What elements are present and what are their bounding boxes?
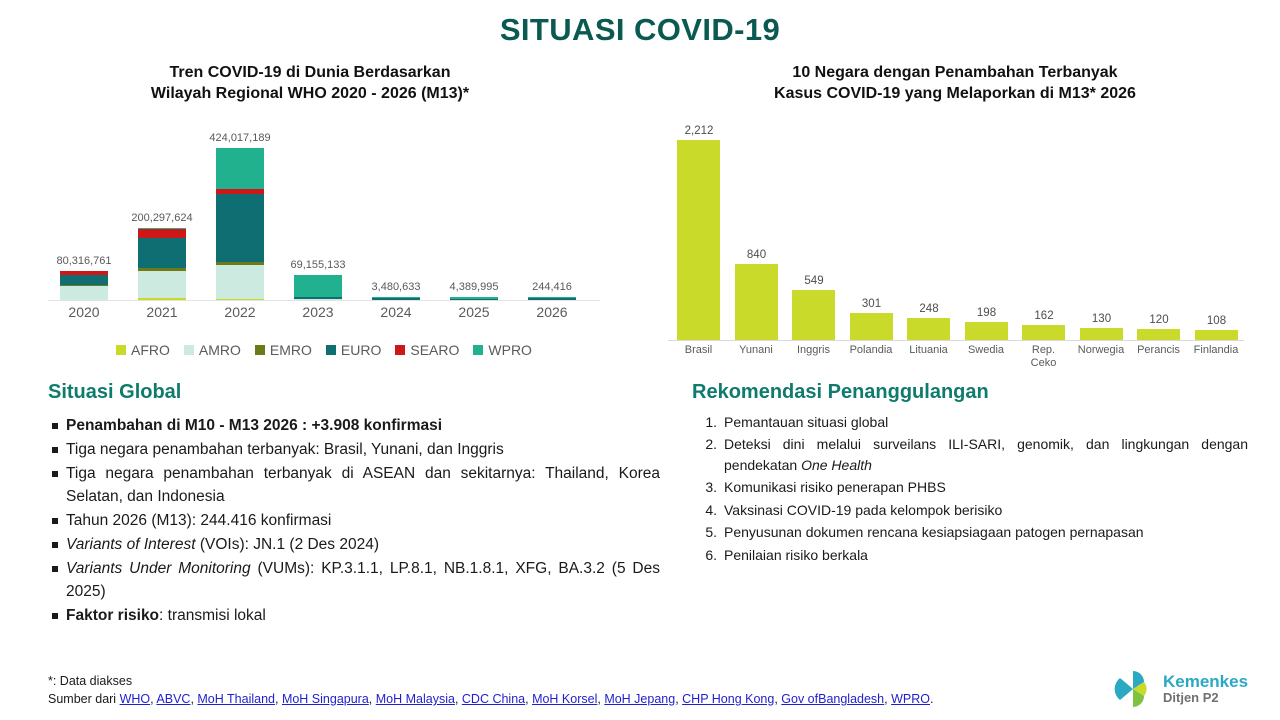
source-link-mohkorsel[interactable]: MoH Korsel bbox=[532, 692, 597, 706]
left-chart-legend: AFROAMROEMROEUROSEAROWPRO bbox=[44, 342, 604, 358]
country-bar-column: 108 bbox=[1188, 118, 1245, 340]
legend-swatch-icon bbox=[473, 345, 483, 355]
legend-item-searo[interactable]: SEARO bbox=[395, 342, 459, 358]
source-link-chphongkong[interactable]: CHP Hong Kong bbox=[682, 692, 774, 706]
rekomendasi-heading: Rekomendasi Penanggulangan bbox=[692, 381, 989, 404]
stacked-bar-column: 424,017,189 bbox=[204, 120, 276, 300]
country-label-yunani: Yunani bbox=[728, 344, 785, 357]
rekomendasi-text: Komunikasi risiko penerapan PHBS bbox=[724, 477, 1248, 497]
kemenkes-clover-icon bbox=[1112, 668, 1156, 710]
left-chart-title-line1: Tren COVID-19 di Dunia Berdasarkan bbox=[30, 62, 590, 83]
list-number: 1. bbox=[700, 412, 717, 432]
country-bar bbox=[735, 264, 778, 340]
country-label-norwegia: Norwegia bbox=[1073, 344, 1130, 357]
x-axis-label-2022: 2022 bbox=[204, 304, 276, 320]
left-chart-plot: 80,316,761200,297,624424,017,18969,155,1… bbox=[44, 120, 604, 300]
country-label-inggris: Inggris bbox=[785, 344, 842, 357]
legend-swatch-icon bbox=[184, 345, 194, 355]
stacked-bar bbox=[216, 148, 264, 300]
bullet-square-icon bbox=[52, 471, 58, 477]
situasi-bullet-item: Penambahan di M10 - M13 2026 : +3.908 ko… bbox=[52, 415, 660, 438]
rekomendasi-item: 3.Komunikasi risiko penerapan PHBS bbox=[700, 477, 1248, 497]
stacked-bar-segment-wpro bbox=[216, 148, 264, 189]
stacked-bar-column: 80,316,761 bbox=[48, 120, 120, 300]
list-number: 3. bbox=[700, 477, 717, 497]
country-label-finlandia: Finlandia bbox=[1188, 344, 1245, 357]
bullet-square-icon bbox=[52, 566, 58, 572]
rekomendasi-item: 6.Penilaian risiko berkala bbox=[700, 545, 1248, 565]
right-chart-title: 10 Negara dengan Penambahan Terbanyak Ka… bbox=[650, 62, 1260, 104]
stacked-bar-column: 69,155,133 bbox=[282, 120, 354, 300]
rekomendasi-item: 1.Pemantauan situasi global bbox=[700, 412, 1248, 432]
right-chart-title-line2: Kasus COVID-19 yang Melaporkan di M13* 2… bbox=[650, 83, 1260, 104]
rekomendasi-item: 4.Vaksinasi COVID-19 pada kelompok beris… bbox=[700, 500, 1248, 520]
country-bar bbox=[1022, 325, 1065, 340]
bullet-square-icon bbox=[52, 613, 58, 619]
rekomendasi-text: Deteksi dini melalui surveilans ILI-SARI… bbox=[724, 434, 1248, 475]
situasi-bullet-item: Tiga negara penambahan terbanyak: Brasil… bbox=[52, 439, 660, 462]
stacked-bar-segment-euro bbox=[216, 194, 264, 261]
source-separator: , bbox=[275, 692, 282, 706]
stacked-bar-segment-amro bbox=[216, 265, 264, 299]
stacked-bar-segment-amro bbox=[138, 271, 186, 298]
country-bar bbox=[850, 313, 893, 340]
situasi-bullet-text: Variants Under Monitoring (VUMs): KP.3.1… bbox=[66, 558, 660, 604]
source-link-wpro[interactable]: WPRO bbox=[891, 692, 930, 706]
legend-label: WPRO bbox=[488, 342, 532, 358]
source-separator: , bbox=[455, 692, 462, 706]
slide-root: SITUASI COVID-19 Tren COVID-19 di Dunia … bbox=[0, 0, 1280, 720]
country-label-repceko: Rep.Ceko bbox=[1015, 344, 1072, 371]
stacked-bar-segment-amro bbox=[60, 286, 108, 300]
logo-subtitle: Ditjen P2 bbox=[1163, 691, 1248, 705]
stacked-bar-segment-searo bbox=[138, 229, 186, 238]
kemenkes-logo-text: Kemenkes Ditjen P2 bbox=[1163, 673, 1248, 705]
stacked-bar-segment-euro bbox=[60, 275, 108, 285]
right-chart-plot: 2,212840549301248198162130120108 bbox=[668, 118, 1268, 340]
stacked-bar-column: 3,480,633 bbox=[360, 120, 432, 300]
country-bar bbox=[1137, 329, 1180, 340]
rekomendasi-text: Vaksinasi COVID-19 pada kelompok berisik… bbox=[724, 500, 1248, 520]
who-region-trend-chart: 80,316,761200,297,624424,017,18969,155,1… bbox=[44, 120, 604, 365]
left-chart-title: Tren COVID-19 di Dunia Berdasarkan Wilay… bbox=[30, 62, 590, 104]
source-separator: . bbox=[930, 692, 933, 706]
right-chart-x-labels: BrasilYunaniInggrisPolandiaLituaniaSwedi… bbox=[668, 344, 1268, 378]
country-bar-column: 2,212 bbox=[670, 118, 727, 340]
rekomendasi-list: 1.Pemantauan situasi global2.Deteksi din… bbox=[700, 412, 1248, 567]
situasi-bullet-text: Faktor risiko: transmisi lokal bbox=[66, 605, 660, 628]
country-bar bbox=[1080, 328, 1123, 340]
source-link-cdcchina[interactable]: CDC China bbox=[462, 692, 525, 706]
stacked-bar-segment-euro bbox=[138, 238, 186, 268]
stacked-bar-column: 244,416 bbox=[516, 120, 588, 300]
source-link-mohmalaysia[interactable]: MoH Malaysia bbox=[376, 692, 455, 706]
legend-item-euro[interactable]: EURO bbox=[326, 342, 381, 358]
list-number: 4. bbox=[700, 500, 717, 520]
legend-swatch-icon bbox=[116, 345, 126, 355]
stacked-bar bbox=[138, 228, 186, 300]
stacked-bar-value-label: 69,155,133 bbox=[263, 259, 373, 271]
country-bar-value-label: 108 bbox=[1177, 315, 1257, 327]
legend-label: AMRO bbox=[199, 342, 241, 358]
page-title: SITUASI COVID-19 bbox=[0, 12, 1280, 48]
top10-countries-chart: 2,212840549301248198162130120108 BrasilY… bbox=[668, 118, 1268, 378]
situasi-bullet-item: Variants of Interest (VOIs): JN.1 (2 Des… bbox=[52, 534, 660, 557]
x-axis-label-2026: 2026 bbox=[516, 304, 588, 320]
right-chart-title-line1: 10 Negara dengan Penambahan Terbanyak bbox=[650, 62, 1260, 83]
kemenkes-logo: Kemenkes Ditjen P2 bbox=[1112, 664, 1264, 714]
footer-source-line: Sumber dari WHO, ABVC, MoH Thailand, MoH… bbox=[48, 690, 1088, 708]
country-bar-column: 120 bbox=[1130, 118, 1187, 340]
legend-item-amro[interactable]: AMRO bbox=[184, 342, 241, 358]
legend-swatch-icon bbox=[255, 345, 265, 355]
legend-label: SEARO bbox=[410, 342, 459, 358]
source-link-govofbangladesh[interactable]: Gov ofBangladesh bbox=[781, 692, 884, 706]
source-link-mohthailand[interactable]: MoH Thailand bbox=[197, 692, 275, 706]
source-separator: , bbox=[369, 692, 376, 706]
x-axis-label-2025: 2025 bbox=[438, 304, 510, 320]
country-bar-column: 198 bbox=[958, 118, 1015, 340]
situasi-bullet-text: Tahun 2026 (M13): 244.416 konfirmasi bbox=[66, 510, 660, 533]
stacked-bar-column: 4,389,995 bbox=[438, 120, 510, 300]
bullet-square-icon bbox=[52, 423, 58, 429]
x-axis-label-2020: 2020 bbox=[48, 304, 120, 320]
source-prefix-text: Sumber dari bbox=[48, 692, 120, 706]
situasi-bullet-item: Tahun 2026 (M13): 244.416 konfirmasi bbox=[52, 510, 660, 533]
situasi-global-list: Penambahan di M10 - M13 2026 : +3.908 ko… bbox=[52, 415, 660, 628]
rekomendasi-text: Penilaian risiko berkala bbox=[724, 545, 1248, 565]
country-bar-column: 162 bbox=[1015, 118, 1072, 340]
legend-label: EURO bbox=[341, 342, 381, 358]
stacked-bar bbox=[60, 271, 108, 300]
stacked-bar bbox=[294, 275, 342, 300]
situasi-bullet-text: Penambahan di M10 - M13 2026 : +3.908 ko… bbox=[66, 415, 660, 438]
country-bar-column: 130 bbox=[1073, 118, 1130, 340]
stacked-bar-value-label: 244,416 bbox=[497, 281, 607, 293]
legend-item-wpro[interactable]: WPRO bbox=[473, 342, 532, 358]
rekomendasi-text: Pemantauan situasi global bbox=[724, 412, 1248, 432]
list-number: 2. bbox=[700, 434, 717, 454]
situasi-bullet-text: Tiga negara penambahan terbanyak: Brasil… bbox=[66, 439, 660, 462]
left-chart-x-labels: 2020202120222023202420252026 bbox=[44, 304, 604, 328]
list-number: 5. bbox=[700, 522, 717, 542]
source-link-mohsingapura[interactable]: MoH Singapura bbox=[282, 692, 369, 706]
country-label-polandia: Polandia bbox=[843, 344, 900, 357]
situasi-bullet-item: Faktor risiko: transmisi lokal bbox=[52, 605, 660, 628]
source-link-abvc[interactable]: ABVC bbox=[156, 692, 190, 706]
x-axis-label-2021: 2021 bbox=[126, 304, 198, 320]
country-bar-column: 840 bbox=[728, 118, 785, 340]
bullet-square-icon bbox=[52, 542, 58, 548]
stacked-bar-column: 200,297,624 bbox=[126, 120, 198, 300]
stacked-bar-value-label: 424,017,189 bbox=[185, 132, 295, 144]
situasi-bullet-text: Tiga negara penambahan terbanyak di ASEA… bbox=[66, 463, 660, 509]
footer: *: Data diakses Sumber dari WHO, ABVC, M… bbox=[48, 672, 1088, 708]
legend-swatch-icon bbox=[326, 345, 336, 355]
bullet-square-icon bbox=[52, 518, 58, 524]
country-label-perancis: Perancis bbox=[1130, 344, 1187, 357]
right-chart-axis-line bbox=[668, 340, 1244, 341]
stacked-bar-value-label: 200,297,624 bbox=[107, 212, 217, 224]
country-bar bbox=[677, 140, 720, 340]
situasi-bullet-item: Tiga negara penambahan terbanyak di ASEA… bbox=[52, 463, 660, 509]
rekomendasi-item: 5.Penyusunan dokumen rencana kesiapsiaga… bbox=[700, 522, 1248, 542]
x-axis-label-2023: 2023 bbox=[282, 304, 354, 320]
left-chart-title-line2: Wilayah Regional WHO 2020 - 2026 (M13)* bbox=[30, 83, 590, 104]
situasi-bullet-item: Variants Under Monitoring (VUMs): KP.3.1… bbox=[52, 558, 660, 604]
stacked-bar-value-label: 80,316,761 bbox=[29, 255, 139, 267]
country-label-brasil: Brasil bbox=[670, 344, 727, 357]
legend-label: EMRO bbox=[270, 342, 312, 358]
situasi-global-heading: Situasi Global bbox=[48, 381, 181, 404]
x-axis-label-2024: 2024 bbox=[360, 304, 432, 320]
legend-item-emro[interactable]: EMRO bbox=[255, 342, 312, 358]
legend-swatch-icon bbox=[395, 345, 405, 355]
rekomendasi-item: 2.Deteksi dini melalui surveilans ILI-SA… bbox=[700, 434, 1248, 475]
left-chart-axis-line bbox=[48, 300, 600, 301]
legend-item-afro[interactable]: AFRO bbox=[116, 342, 170, 358]
country-label-lituania: Lituania bbox=[900, 344, 957, 357]
country-bar bbox=[907, 318, 950, 340]
bullet-square-icon bbox=[52, 447, 58, 453]
stacked-bar-segment-wpro bbox=[294, 275, 342, 297]
country-bar bbox=[965, 322, 1008, 340]
list-number: 6. bbox=[700, 545, 717, 565]
country-bar bbox=[792, 290, 835, 340]
country-bar bbox=[1195, 330, 1238, 340]
footer-access-note: *: Data diakses bbox=[48, 672, 1088, 690]
rekomendasi-text: Penyusunan dokumen rencana kesiapsiagaan… bbox=[724, 522, 1248, 542]
country-label-swedia: Swedia bbox=[958, 344, 1015, 357]
logo-title: Kemenkes bbox=[1163, 673, 1248, 691]
legend-label: AFRO bbox=[131, 342, 170, 358]
source-link-mohjepang[interactable]: MoH Jepang bbox=[604, 692, 675, 706]
source-link-who[interactable]: WHO bbox=[120, 692, 151, 706]
situasi-bullet-text: Variants of Interest (VOIs): JN.1 (2 Des… bbox=[66, 534, 660, 557]
